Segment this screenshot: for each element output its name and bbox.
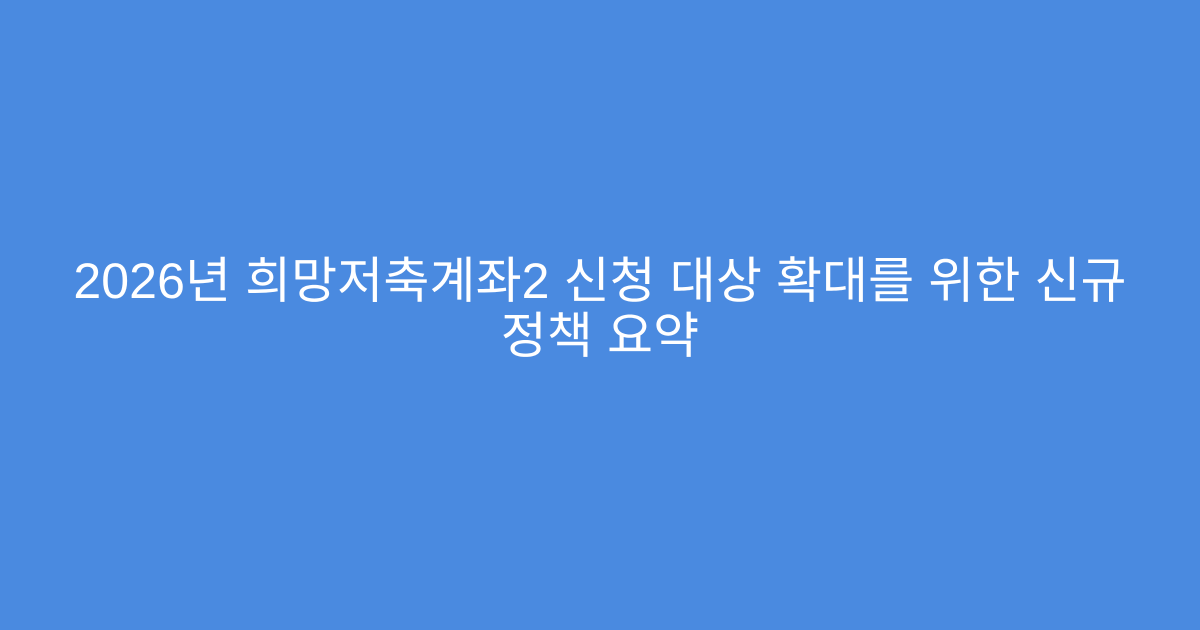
page-title: 2026년 희망저축계좌2 신청 대상 확대를 위한 신규 정책 요약 xyxy=(56,254,1144,364)
share-card: 2026년 희망저축계좌2 신청 대상 확대를 위한 신규 정책 요약 xyxy=(0,0,1200,630)
